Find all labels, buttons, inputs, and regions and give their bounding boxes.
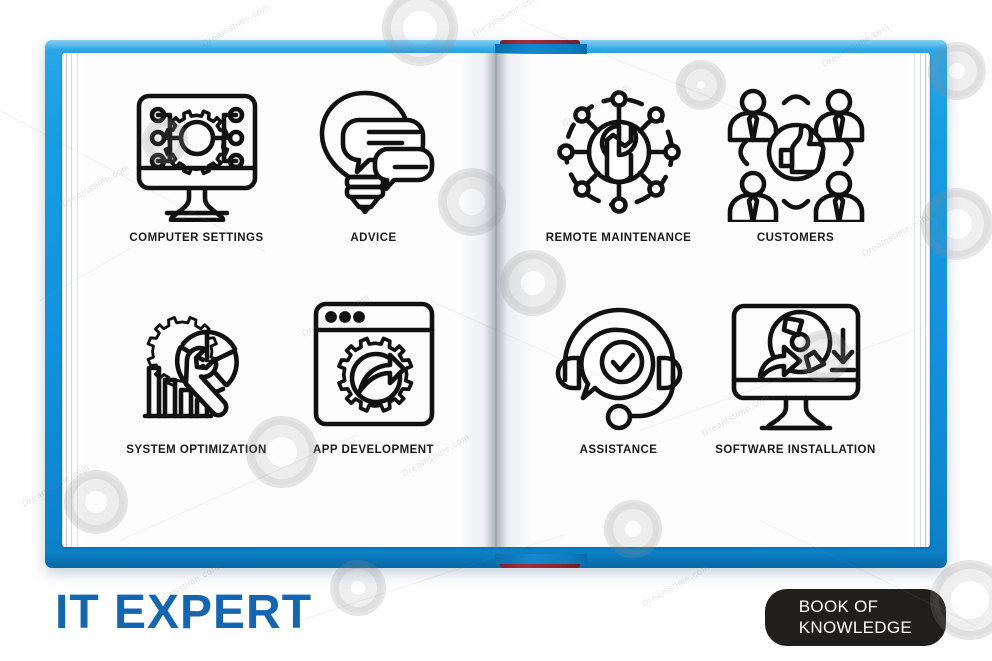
icon-cell-advice[interactable]: ADVICE (285, 77, 462, 289)
badge-line-1: BOOK OF (799, 597, 879, 616)
book-spread: COMPUTER SETTINGS (62, 53, 930, 547)
icon-label: COMPUTER SETTINGS (129, 231, 263, 246)
icon-cell-customers[interactable]: CUSTOMERS (707, 77, 884, 289)
icon-label: REMOTE MAINTENANCE (546, 231, 691, 246)
monitor-gear-icon (122, 77, 272, 227)
lightbulb-chat-icon (299, 77, 449, 227)
badge-line-2: KNOWLEDGE (799, 617, 912, 638)
monitor-disc-download-icon (721, 289, 871, 439)
icon-label: ASSISTANCE (580, 443, 658, 458)
spine-accent-blue-bottom (495, 554, 587, 564)
icon-label: APP DEVELOPMENT (313, 443, 434, 458)
gear-wrench-chart-icon (122, 289, 272, 439)
book-pages: COMPUTER SETTINGS (62, 53, 930, 547)
headset-check-icon (544, 289, 694, 439)
open-book: COMPUTER SETTINGS (45, 40, 947, 568)
left-page: COMPUTER SETTINGS (62, 53, 496, 547)
network-wrench-icon (544, 77, 694, 227)
icon-cell-system-optimization[interactable]: SYSTEM OPTIMIZATION (108, 289, 285, 501)
left-page-grid: COMPUTER SETTINGS (62, 77, 496, 501)
icon-cell-remote-maintenance[interactable]: REMOTE MAINTENANCE (530, 77, 707, 289)
right-page: REMOTE MAINTENANCE (496, 53, 930, 547)
icon-cell-app-development[interactable]: APP DEVELOPMENT (285, 289, 462, 501)
icon-label: CUSTOMERS (757, 231, 834, 246)
icon-cell-software-installation[interactable]: SOFTWARE INSTALLATION (707, 289, 884, 501)
people-thumbsup-icon (721, 77, 871, 227)
icon-label: SOFTWARE INSTALLATION (715, 443, 875, 458)
book-of-knowledge-badge[interactable]: BOOK OF KNOWLEDGE (765, 589, 946, 646)
icon-cell-assistance[interactable]: ASSISTANCE (530, 289, 707, 501)
page-title: IT EXPERT (55, 587, 312, 639)
icon-cell-computer-settings[interactable]: COMPUTER SETTINGS (108, 77, 285, 289)
footer: IT EXPERT BOOK OF KNOWLEDGE (0, 575, 992, 661)
right-page-grid: REMOTE MAINTENANCE (496, 77, 930, 501)
watermark-text: Dreamstime.com (470, 0, 541, 39)
browser-gear-arrow-icon (299, 289, 449, 439)
icon-label: SYSTEM OPTIMIZATION (126, 443, 267, 458)
icon-label: ADVICE (350, 231, 396, 246)
